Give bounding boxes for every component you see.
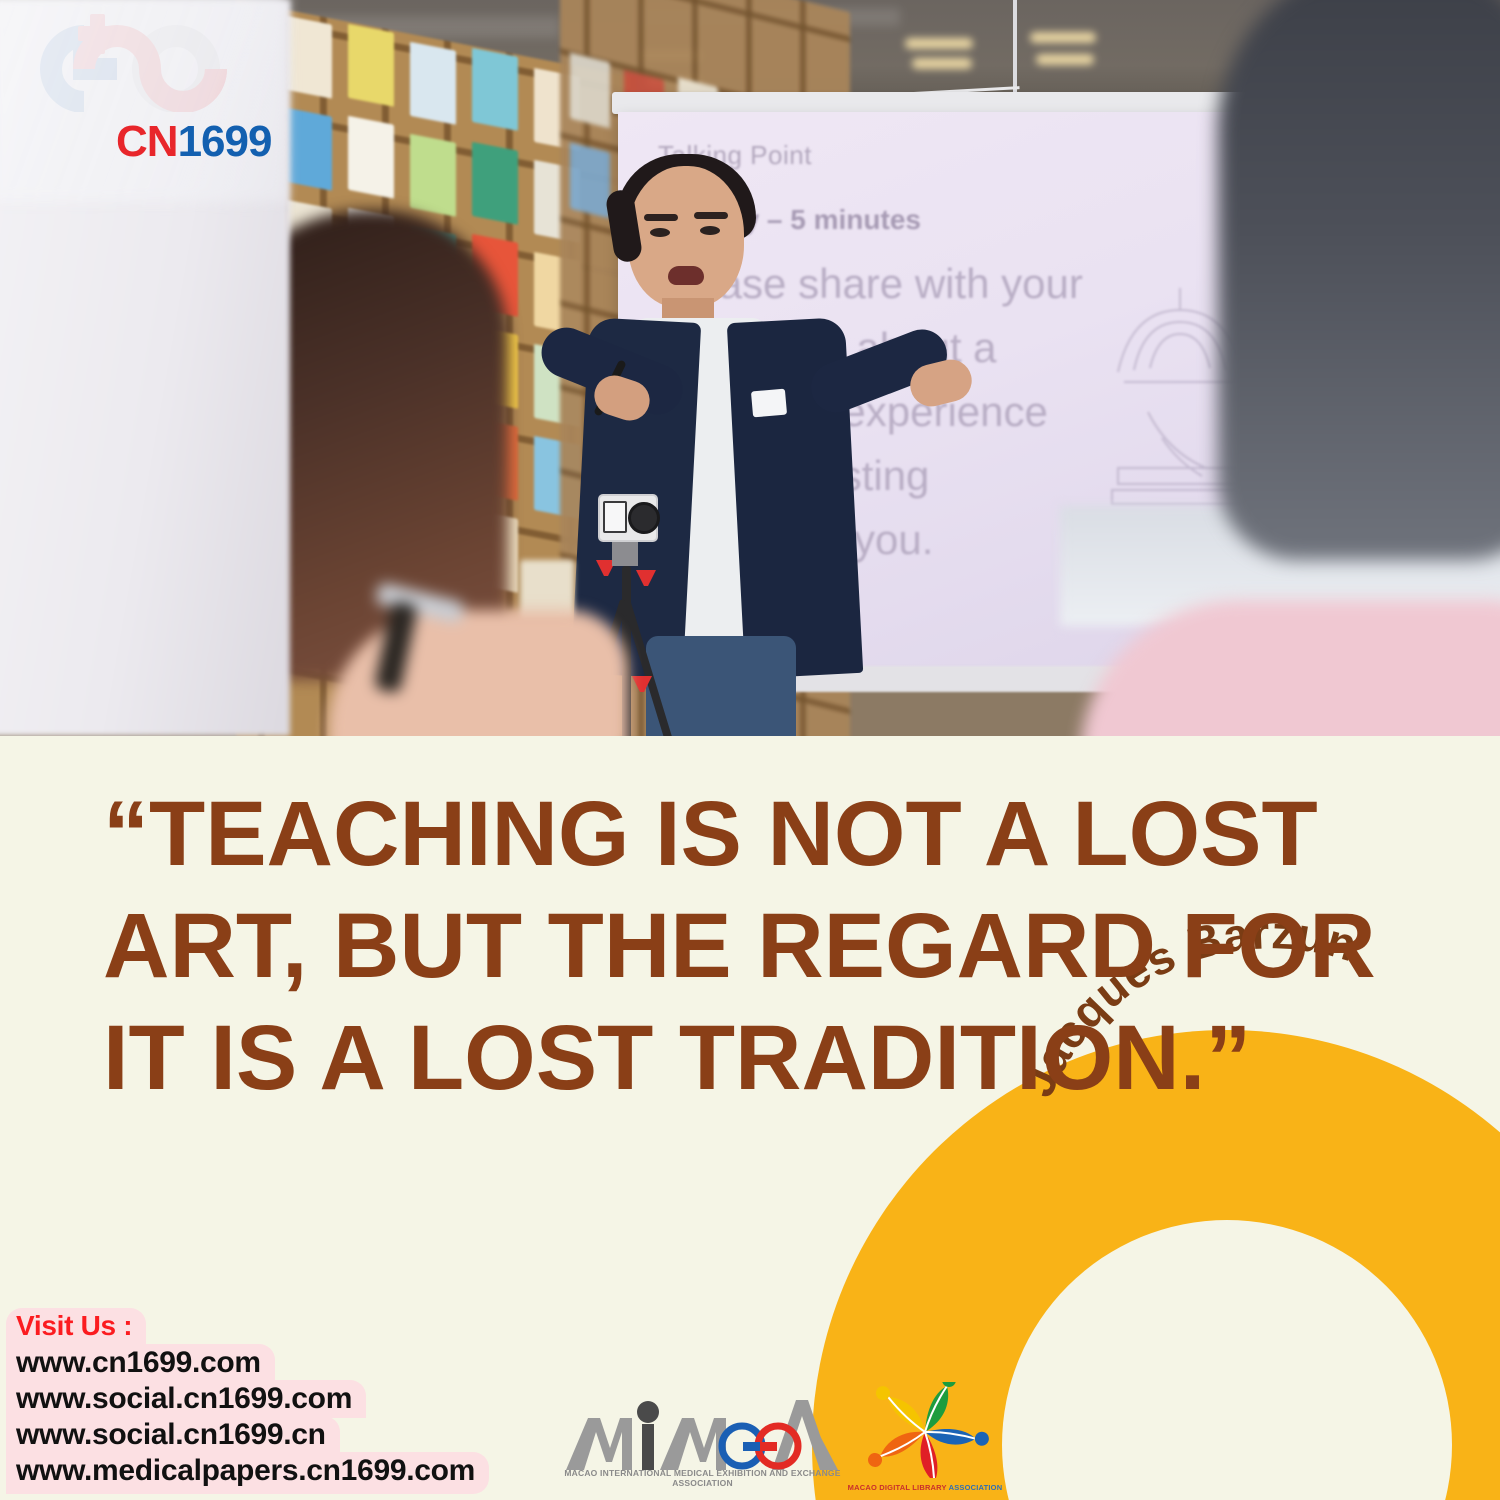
speaker-jeans [646,636,796,736]
ceiling-light [905,38,973,49]
ceiling-light [1036,54,1094,65]
ceiling-light [1030,32,1096,43]
partner-logo-mimea: MACAO INTERNATIONAL MEDICAL EXHIBITION A… [560,1388,845,1492]
book [286,108,332,191]
speaker-brow [694,212,728,219]
brand-logo[interactable]: CN1699 [28,12,278,172]
mimea-logo-icon [560,1388,845,1480]
gopro-lens-icon [628,502,660,534]
logo-backdrop [0,0,288,202]
visit-us-heading: Visit Us : [6,1308,146,1346]
mimea-caption: MACAO INTERNATIONAL MEDICAL EXHIBITION A… [560,1468,845,1488]
logo-wordmark-cn: CN [116,117,178,166]
logo-wordmark: CN1699 [116,117,271,167]
gopro-mount [612,540,638,566]
visit-link[interactable]: www.cn1699.com [6,1344,275,1382]
screen-pole [1013,0,1017,96]
speaker-brow [644,214,678,221]
speaker-pocket-square [751,389,787,418]
mdla-caption: MACAO DIGITAL LIBRARY ASSOCIATION [840,1483,1010,1492]
quote-text: “TEACHING IS NOT A LOST ART, BUT THE REG… [103,778,1393,1115]
attendee-hair [1218,0,1500,560]
foreground-attendee-right [1218,0,1500,660]
visit-link[interactable]: www.social.cn1699.cn [6,1416,340,1454]
logo-wordmark-number: 1699 [178,117,272,166]
speaker-eye [700,226,720,235]
book [472,48,518,131]
book [286,16,332,99]
visit-link[interactable]: www.social.cn1699.com [6,1380,366,1418]
content-area: Jacques Barzun “TEACHING IS NOT A LOST A… [0,736,1500,1500]
ceiling-light [912,58,972,69]
mdla-caption-main: MACAO DIGITAL LIBRARY [848,1483,949,1492]
book [348,116,394,199]
speaker-head [628,166,744,308]
screen-top-bar [612,92,1312,114]
partner-logo-mdla: MACAO DIGITAL LIBRARY ASSOCIATION [840,1382,1010,1494]
book [570,52,610,128]
quote-poster: Talking Point Activity – 5 minutes Pleas… [0,0,1500,1500]
visit-us-block: Visit Us : www.cn1699.com www.social.cn1… [6,1308,489,1492]
mdla-caption-accent: ASSOCIATION [949,1483,1003,1492]
speaker-mouth [668,266,704,285]
book [348,24,394,107]
visit-link[interactable]: www.medicalpapers.cn1699.com [6,1452,489,1494]
mdla-lotus-logo-icon [840,1382,1010,1478]
book [410,42,456,125]
speaker-eye [650,228,670,237]
book [410,134,456,217]
